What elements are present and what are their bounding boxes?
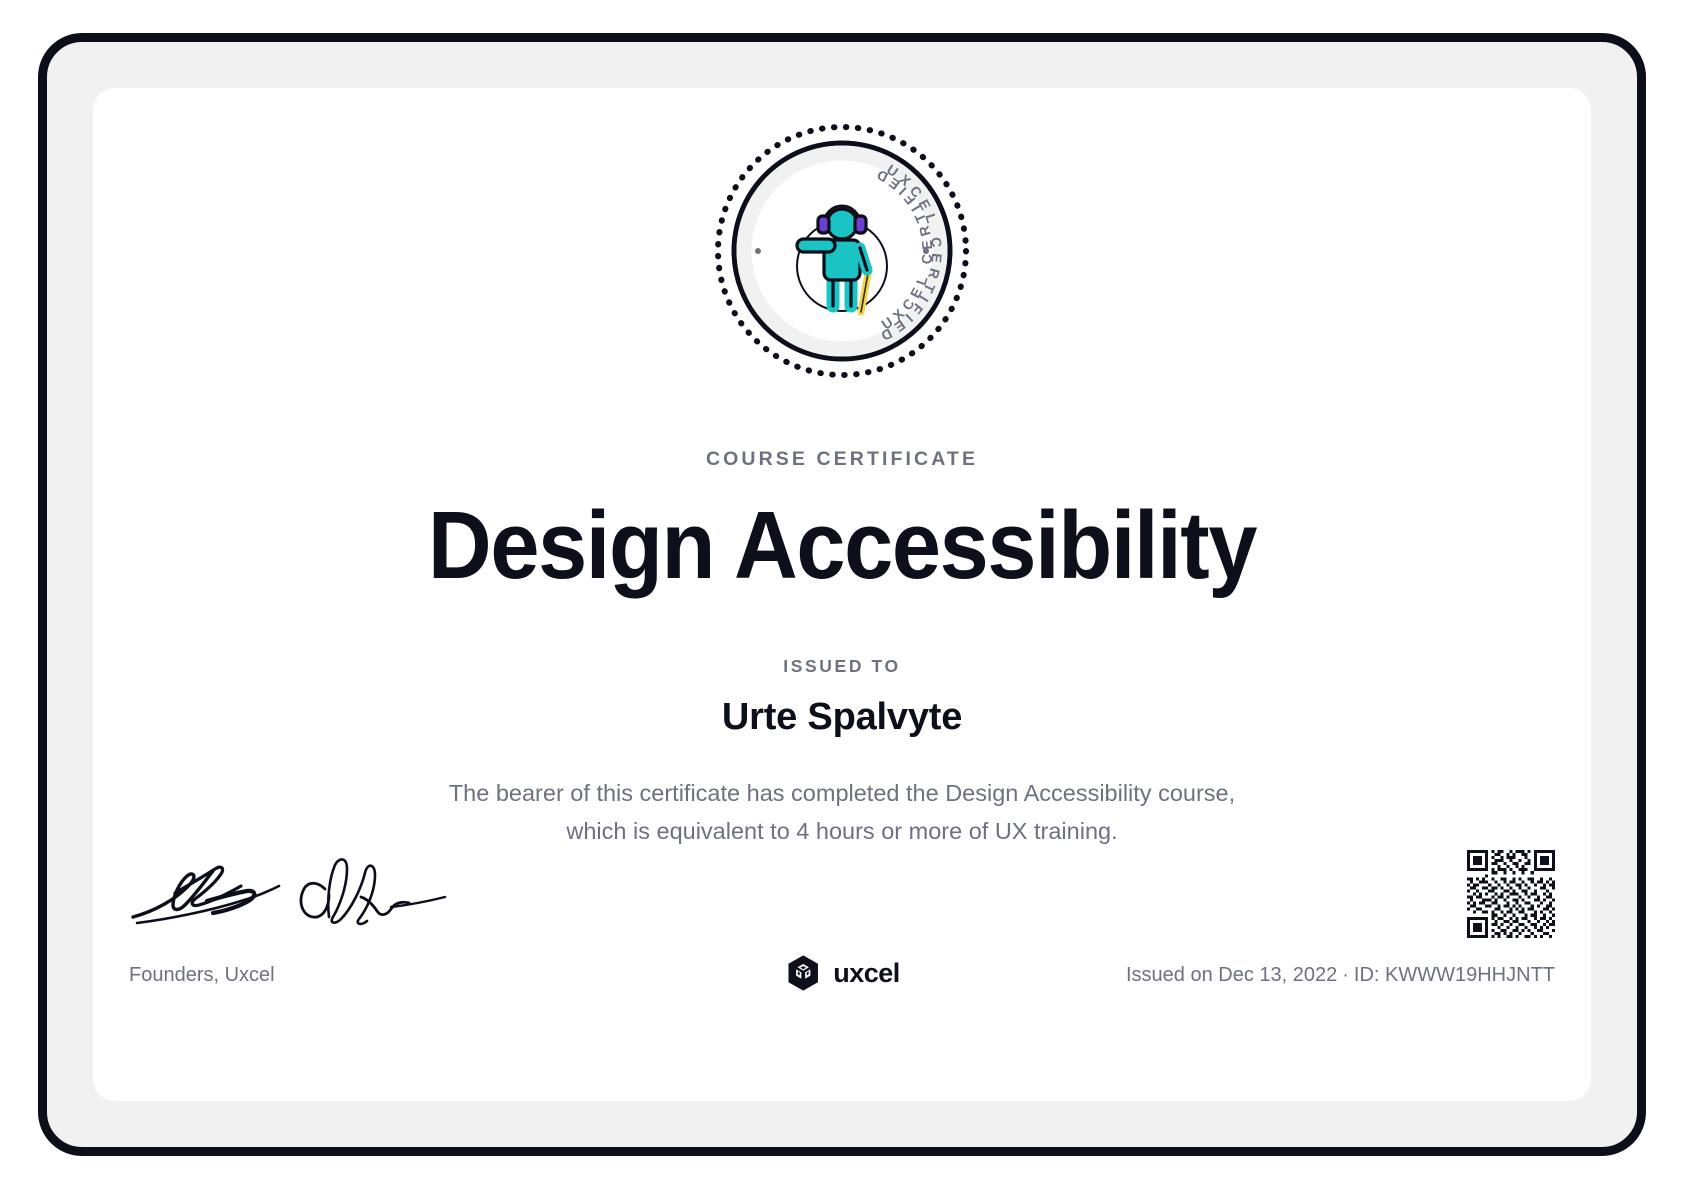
certificate-card: UXCEL CERTIFIED UXCEL CERTIFIED [93, 88, 1591, 1101]
certificate-frame: UXCEL CERTIFIED UXCEL CERTIFIED [38, 33, 1646, 1156]
recipient-name: Urte Spalvyte [93, 696, 1591, 739]
issued-on-date: Issued on Dec 13, 2022 [1126, 964, 1337, 986]
credential-id: ID: KWWW19HHJNTT [1354, 964, 1555, 986]
brand-logo: uxcel [784, 954, 900, 992]
page-title: Design Accessibility [153, 494, 1531, 598]
description-line-2: which is equivalent to 4 hours or more o… [392, 812, 1292, 850]
certification-badge: UXCEL CERTIFIED UXCEL CERTIFIED [711, 120, 973, 382]
certificate-description: The bearer of this certificate has compl… [392, 774, 1292, 850]
description-line-1: The bearer of this certificate has compl… [392, 774, 1292, 812]
page-eyebrow: COURSE CERTIFICATE [93, 448, 1591, 471]
signature-icon [129, 853, 449, 937]
founders-label: Founders, Uxcel [129, 964, 275, 987]
brand-name: uxcel [833, 958, 900, 989]
issued-to-label: ISSUED TO [93, 656, 1591, 677]
meta-separator: · [1337, 964, 1354, 986]
uxcel-hexagon-cube-icon [784, 954, 822, 992]
certificate-meta: Issued on Dec 13, 2022·ID: KWWW19HHJNTT [1126, 964, 1555, 987]
qr-code-icon[interactable] [1467, 850, 1555, 938]
